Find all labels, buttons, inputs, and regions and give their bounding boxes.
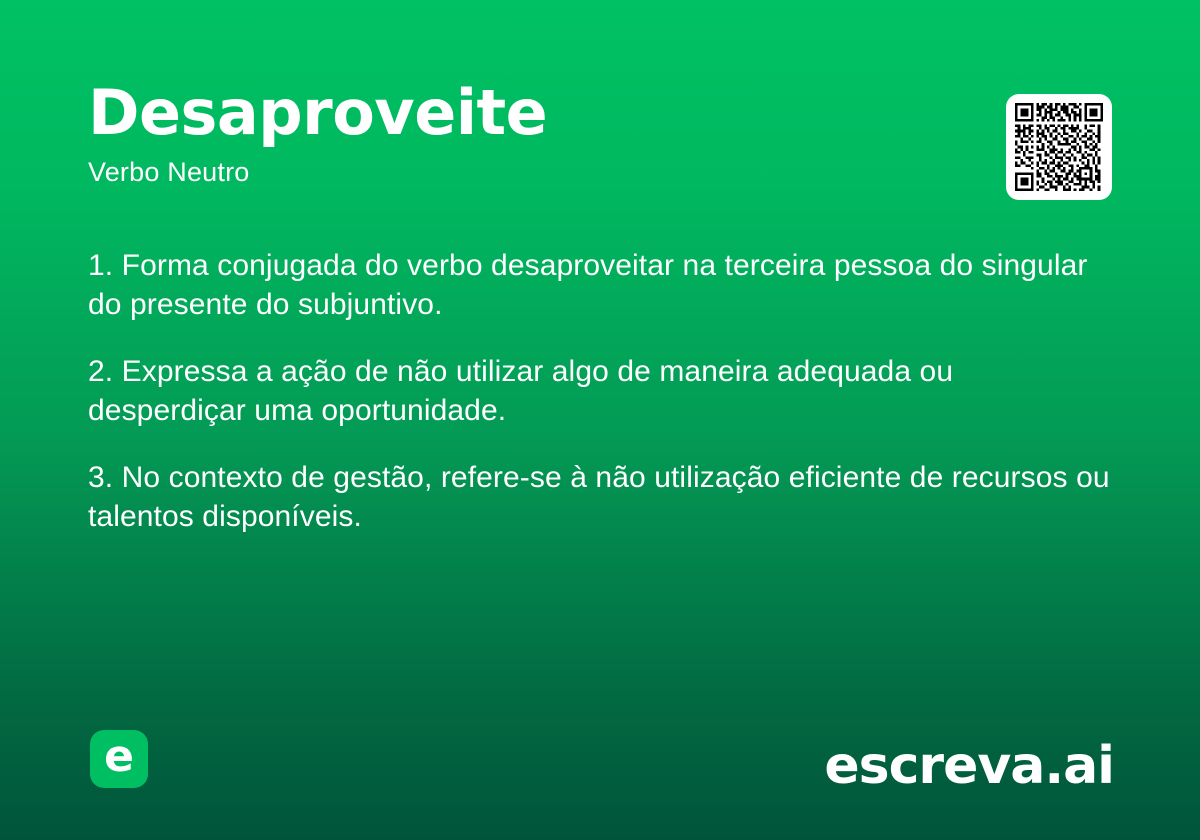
brand-wordmark: escreva.ai [824,740,1114,792]
definitions-list: 1. Forma conjugada do verbo desaproveita… [88,246,1116,536]
qr-code-icon [1015,103,1103,191]
definition-item: 3. No contexto de gestão, refere-se à nã… [88,458,1116,536]
qr-code[interactable] [1006,94,1112,200]
brand-logo-glyph: e [104,735,134,779]
word-class-subtitle: Verbo Neutro [88,158,1112,188]
brand-logo-badge: e [90,730,148,788]
definition-item: 2. Expressa a ação de não utilizar algo … [88,352,1116,430]
definition-item: 1. Forma conjugada do verbo desaproveita… [88,246,1116,324]
card-header: Desaproveite Verbo Neutro [88,82,1112,188]
word-title: Desaproveite [88,82,1112,144]
dictionary-card: Desaproveite Verbo Neutro [0,0,1200,840]
